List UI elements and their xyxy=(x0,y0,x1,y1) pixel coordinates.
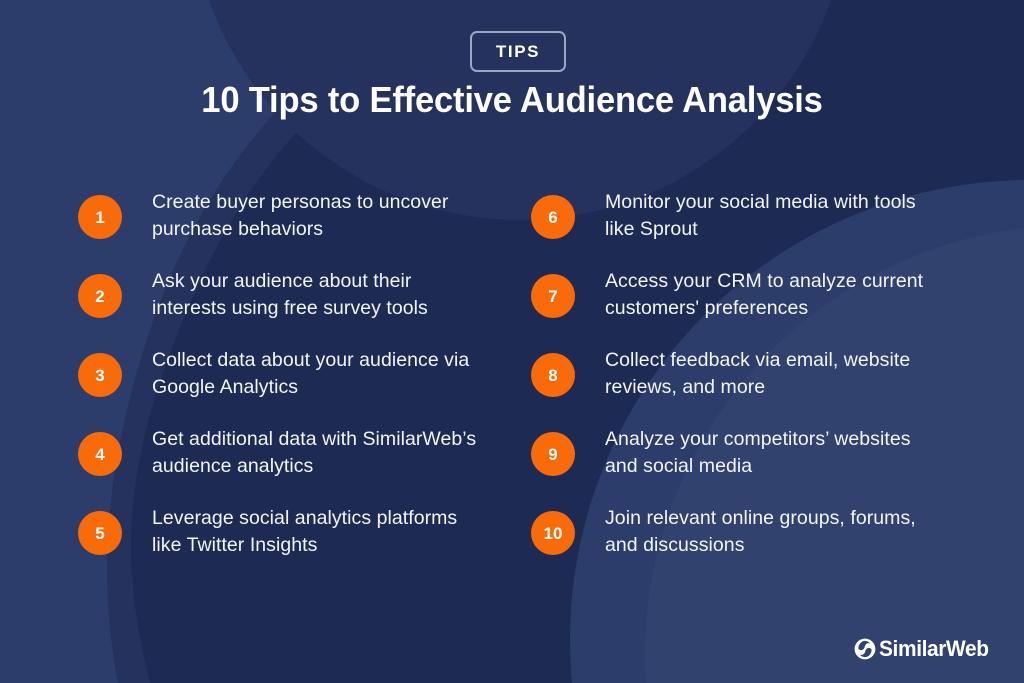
tip-text: Get additional data with SimilarWeb’s au… xyxy=(152,425,488,480)
page-title: 10 Tips to Effective Audience Analysis xyxy=(20,79,1003,121)
tips-column-right: 6 Monitor your social media with tools l… xyxy=(531,188,941,583)
tip-number-badge: 1 xyxy=(78,195,122,239)
tip-number-badge: 2 xyxy=(78,274,122,318)
similarweb-swirl-icon xyxy=(854,638,876,660)
tip-text: Join relevant online groups, forums, and… xyxy=(605,504,941,559)
list-item: 6 Monitor your social media with tools l… xyxy=(531,188,941,267)
list-item: 3 Collect data about your audience via G… xyxy=(78,346,488,425)
tip-text: Collect feedback via email, website revi… xyxy=(605,346,941,401)
list-item: 1 Create buyer personas to uncover purch… xyxy=(78,188,488,267)
list-item: 5 Leverage social analytics platforms li… xyxy=(78,504,488,583)
list-item: 9 Analyze your competitors’ websites and… xyxy=(531,425,941,504)
similarweb-logo-text: SimilarWeb xyxy=(879,636,989,662)
tip-text: Collect data about your audience via Goo… xyxy=(152,346,488,401)
list-item: 8 Collect feedback via email, website re… xyxy=(531,346,941,425)
tip-number-badge: 10 xyxy=(531,511,575,555)
list-item: 4 Get additional data with SimilarWeb’s … xyxy=(78,425,488,504)
list-item: 7 Access your CRM to analyze current cus… xyxy=(531,267,941,346)
tip-number-badge: 7 xyxy=(531,274,575,318)
list-item: 10 Join relevant online groups, forums, … xyxy=(531,504,941,583)
tip-number-badge: 6 xyxy=(531,195,575,239)
tip-number-badge: 8 xyxy=(531,353,575,397)
tip-text: Access your CRM to analyze current custo… xyxy=(605,267,941,322)
list-item: 2 Ask your audience about their interest… xyxy=(78,267,488,346)
tip-number-badge: 5 xyxy=(78,511,122,555)
similarweb-logo: SimilarWeb xyxy=(854,636,994,662)
tip-text: Leverage social analytics platforms like… xyxy=(152,504,488,559)
tip-text: Create buyer personas to uncover purchas… xyxy=(152,188,488,243)
tip-text: Monitor your social media with tools lik… xyxy=(605,188,941,243)
infographic-canvas: TIPS 10 Tips to Effective Audience Analy… xyxy=(0,0,1024,683)
tips-column-left: 1 Create buyer personas to uncover purch… xyxy=(78,188,488,583)
tip-text: Ask your audience about their interests … xyxy=(152,267,488,322)
tip-text: Analyze your competitors’ websites and s… xyxy=(605,425,941,480)
tips-badge-label: TIPS xyxy=(496,42,540,62)
tip-number-badge: 9 xyxy=(531,432,575,476)
tip-number-badge: 4 xyxy=(78,432,122,476)
tip-number-badge: 3 xyxy=(78,353,122,397)
tips-badge: TIPS xyxy=(470,31,566,72)
